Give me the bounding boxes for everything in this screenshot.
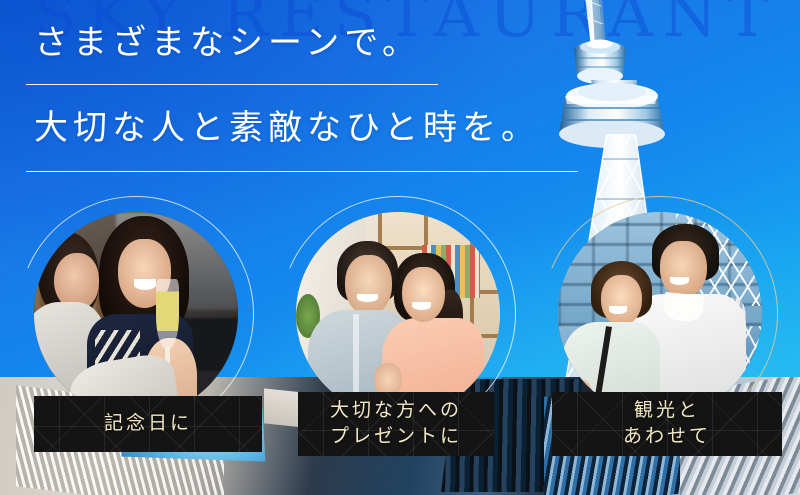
headline-line-1: さまざまなシーンで。 xyxy=(34,26,766,60)
feature-caption-text: 大切な方への プレゼントに xyxy=(330,398,462,449)
sky-restaurant-banner: SKY RESTAURANT xyxy=(0,0,800,495)
headline-divider-1 xyxy=(26,84,438,85)
feature-card-anniversary[interactable]: 記念日に xyxy=(18,196,268,456)
headline-block: さまざまなシーンで。 大切な人と素敵なひと時を。 xyxy=(26,26,766,172)
feature-photo-anniversary xyxy=(34,212,238,416)
feature-card-sightseeing[interactable]: 観光と あわせて xyxy=(542,196,792,456)
headline-line-2: 大切な人と素敵なひと時を。 xyxy=(34,111,766,145)
feature-card-list: 記念日に xyxy=(0,196,800,456)
feature-caption-text: 観光と あわせて xyxy=(623,398,711,449)
feature-photo-sightseeing xyxy=(558,212,762,416)
headline-divider-2 xyxy=(26,171,578,172)
feature-caption-plate: 観光と あわせて xyxy=(552,392,782,456)
feature-caption-text: 記念日に xyxy=(104,411,192,437)
feature-card-gift[interactable]: 大切な方への プレゼントに xyxy=(280,196,530,456)
feature-photo-gift xyxy=(296,212,500,416)
feature-caption-plate: 大切な方への プレゼントに xyxy=(298,392,494,456)
feature-caption-plate: 記念日に xyxy=(34,396,262,452)
